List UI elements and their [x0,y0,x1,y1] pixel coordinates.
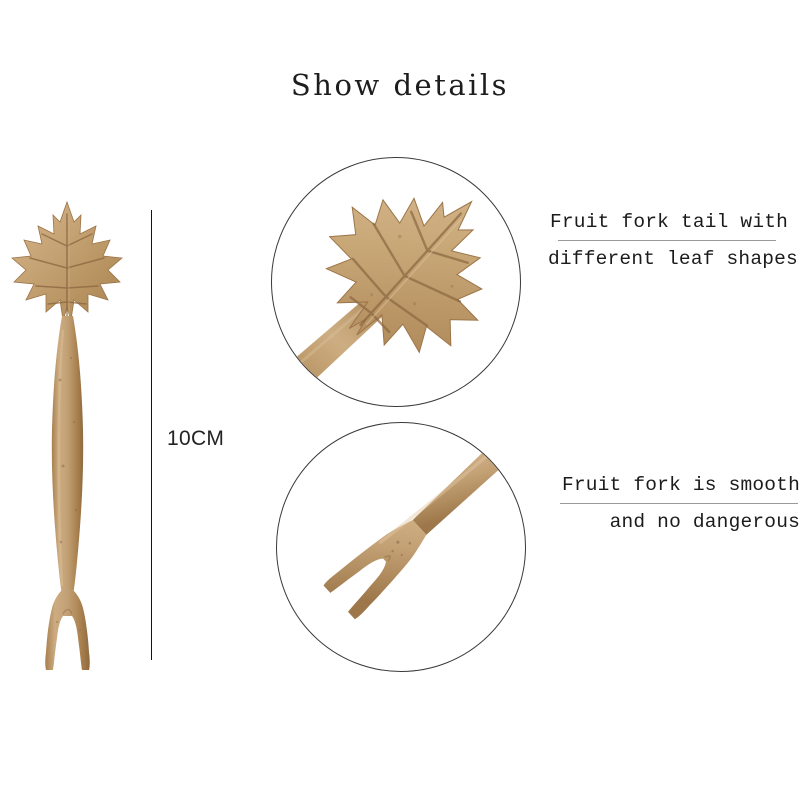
product-detail-canvas: Show details [0,0,800,800]
callout-leaf-shape: Fruit fork tail with different leaf shap… [548,207,798,274]
full-fruit-fork-photo [0,190,150,680]
fork-tines [323,436,515,619]
measurement-label: 10CM [167,427,224,451]
callout-leaf-shape-line2: different leaf shapes [548,244,798,274]
leaf-head [12,202,122,320]
callout-divider [558,240,776,241]
fork-tines [45,590,90,670]
callout-divider [560,503,798,504]
fork-tines-closeup [276,422,526,672]
page-title: Show details [0,68,800,102]
callout-smooth-tines-line1: Fruit fork is smooth [548,470,800,500]
measurement-line [151,210,152,660]
callout-smooth-tines: Fruit fork is smooth and no dangerous [548,470,800,537]
leaf-head-closeup [271,157,521,407]
callout-leaf-shape-line1: Fruit fork tail with [548,207,798,237]
callout-smooth-tines-line2: and no dangerous [548,507,800,537]
fork-handle [52,316,83,594]
